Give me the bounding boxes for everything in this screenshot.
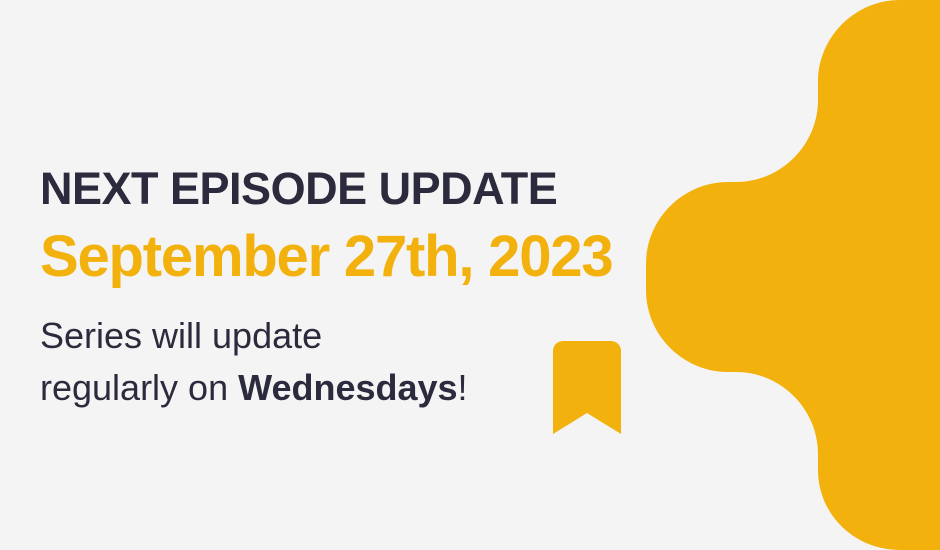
episode-date: September 27th, 2023	[40, 227, 840, 288]
banner-text-block: NEXT EPISODE UPDATE September 27th, 2023…	[40, 166, 840, 414]
schedule-note-day: Wednesdays	[238, 367, 457, 408]
page-title: NEXT EPISODE UPDATE	[40, 166, 840, 211]
schedule-note: Series will updateregularly on Wednesday…	[40, 310, 560, 414]
next-episode-update-banner: NEXT EPISODE UPDATE September 27th, 2023…	[0, 0, 940, 550]
schedule-note-prefix: regularly on	[40, 367, 238, 408]
schedule-note-suffix: !	[458, 367, 468, 408]
schedule-note-line1: Series will update	[40, 315, 322, 356]
